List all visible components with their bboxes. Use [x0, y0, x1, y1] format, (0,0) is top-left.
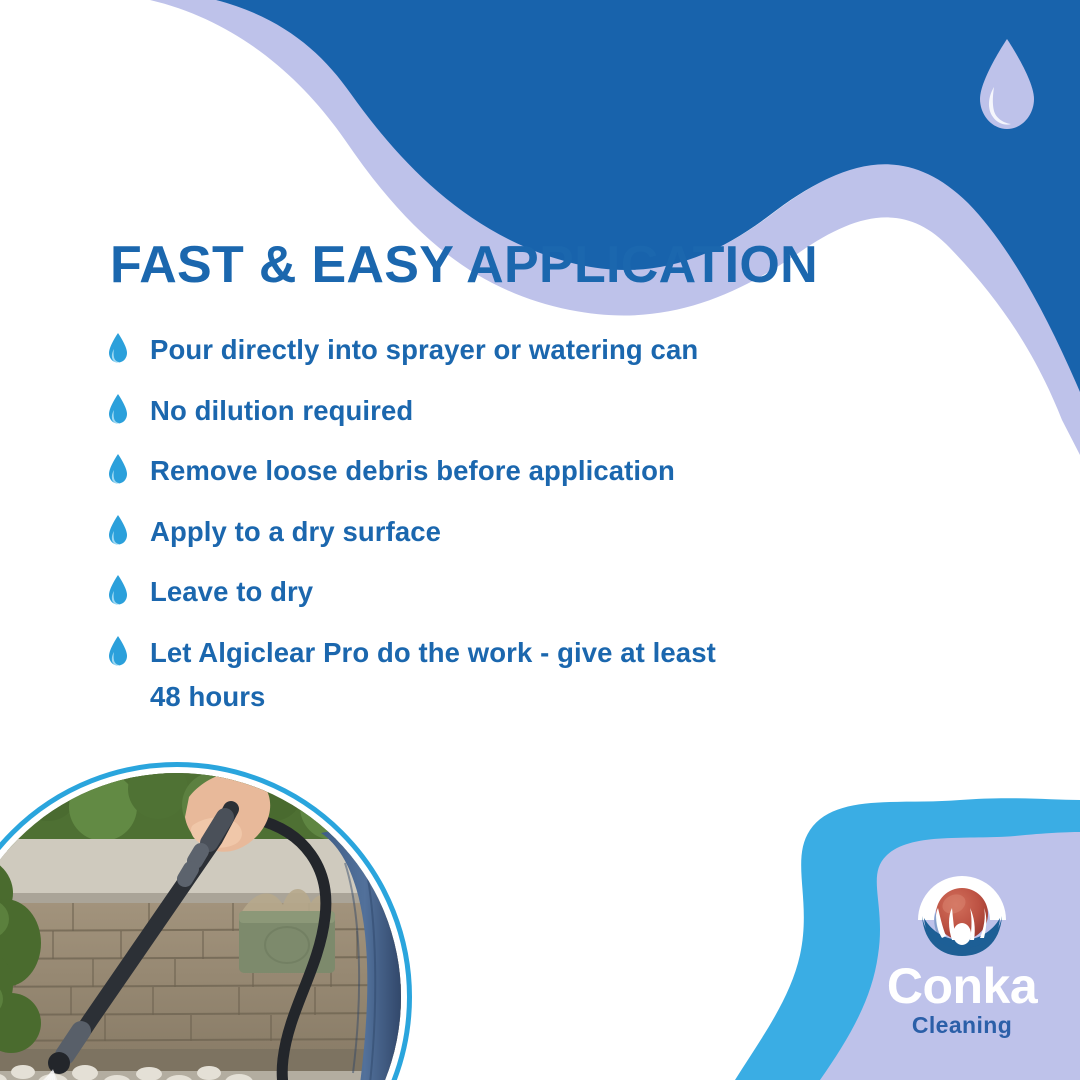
- list-item-label: Let Algiclear Pro do the work - give at …: [150, 631, 750, 720]
- list-item-label: Remove loose debris before application: [150, 449, 675, 494]
- water-drop-icon: [106, 514, 130, 546]
- list-item-label: No dilution required: [150, 389, 413, 434]
- water-drop-icon: [106, 332, 130, 364]
- water-drop-icon: [106, 453, 130, 485]
- list-item-label: Leave to dry: [150, 570, 313, 615]
- water-drop-icon: [106, 635, 130, 667]
- benefits-list: Pour directly into sprayer or watering c…: [106, 328, 866, 736]
- water-drop-icon: [968, 35, 1046, 135]
- logo-tagline: Cleaning: [862, 1013, 1062, 1038]
- list-item: Remove loose debris before application: [106, 449, 866, 494]
- water-drop-icon: [106, 574, 130, 606]
- list-item: Let Algiclear Pro do the work - give at …: [106, 631, 866, 720]
- list-item-label: Apply to a dry surface: [150, 510, 441, 555]
- list-item: Leave to dry: [106, 570, 866, 615]
- logo-brand-name: Conka: [862, 960, 1062, 1013]
- list-item-label: Pour directly into sprayer or watering c…: [150, 328, 698, 373]
- list-item: No dilution required: [106, 389, 866, 434]
- brand-logo: Conka Cleaning: [862, 866, 1062, 1046]
- conka-splash-logo-icon: [908, 866, 1016, 958]
- patio-spraying-photo: [0, 762, 412, 1080]
- list-item: Apply to a dry surface: [106, 510, 866, 555]
- poster-canvas: FAST & EASY APPLICATION Pour directly in…: [0, 0, 1080, 1080]
- water-drop-icon: [106, 393, 130, 425]
- page-title: FAST & EASY APPLICATION: [110, 238, 818, 293]
- list-item: Pour directly into sprayer or watering c…: [106, 328, 866, 373]
- photo-ring-border: [0, 762, 412, 1080]
